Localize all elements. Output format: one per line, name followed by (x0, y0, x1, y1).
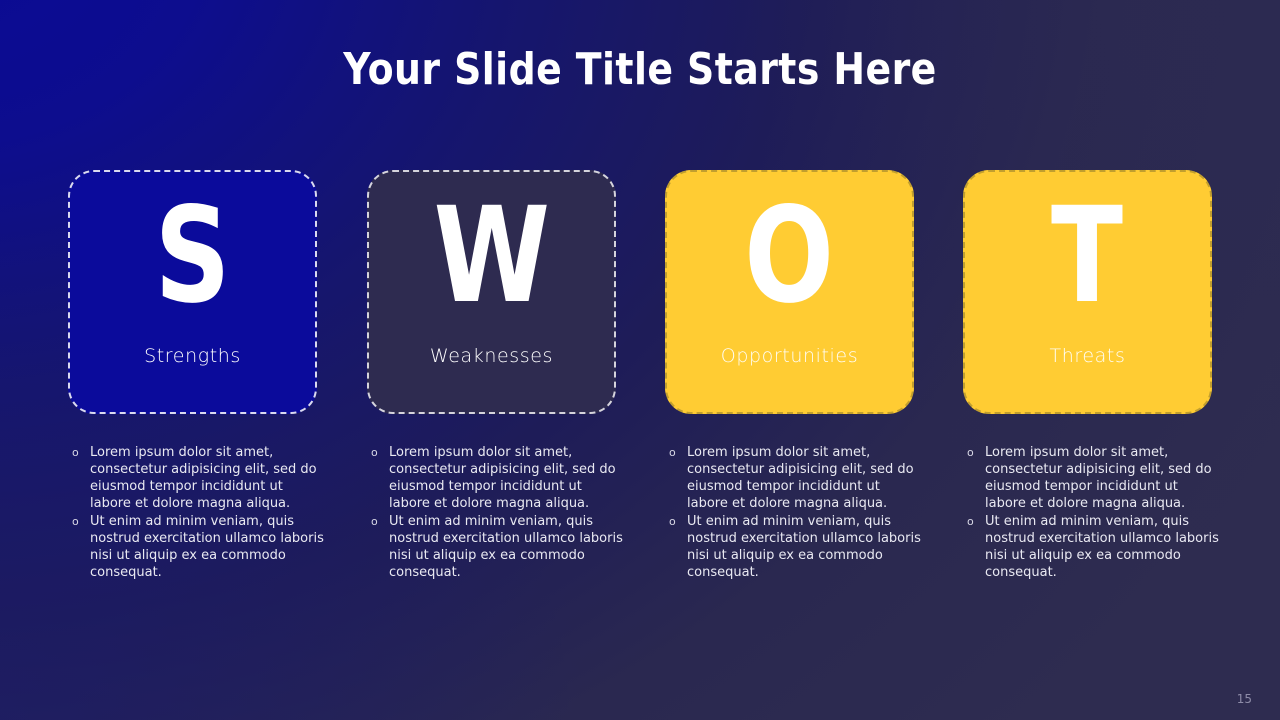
bullet-column-weaknesses: o Lorem ipsum dolor sit amet, consectetu… (371, 444, 623, 582)
list-item-text: Ut enim ad minim veniam, quis nostrud ex… (90, 513, 324, 581)
bullet-column-strengths: o Lorem ipsum dolor sit amet, consectetu… (72, 444, 324, 582)
list-item: o Ut enim ad minim veniam, quis nostrud … (967, 513, 1219, 581)
swot-card-strengths[interactable]: S Strengths (68, 170, 317, 414)
bullet-column-threats: o Lorem ipsum dolor sit amet, consectetu… (967, 444, 1219, 582)
bullet-circle-icon: o (669, 513, 687, 530)
swot-card-row: S Strengths W Weaknesses O Opportunities… (0, 170, 1280, 414)
swot-label-strengths: Strengths (70, 345, 315, 367)
swot-label-weaknesses: Weaknesses (369, 345, 614, 367)
list-item: o Ut enim ad minim veniam, quis nostrud … (72, 513, 324, 581)
swot-card-opportunities[interactable]: O Opportunities (665, 170, 914, 414)
bullet-circle-icon: o (669, 444, 687, 461)
list-item: o Ut enim ad minim veniam, quis nostrud … (371, 513, 623, 581)
swot-label-threats: Threats (965, 345, 1210, 367)
list-item-text: Ut enim ad minim veniam, quis nostrud ex… (687, 513, 921, 581)
list-item-text: Lorem ipsum dolor sit amet, consectetur … (389, 444, 623, 512)
list-item: o Ut enim ad minim veniam, quis nostrud … (669, 513, 921, 581)
list-item-text: Lorem ipsum dolor sit amet, consectetur … (687, 444, 921, 512)
bullet-circle-icon: o (967, 513, 985, 530)
swot-letter-threats: T (1051, 190, 1123, 322)
list-item-text: Lorem ipsum dolor sit amet, consectetur … (90, 444, 324, 512)
page-number: 15 (1237, 692, 1252, 706)
swot-letter-opportunities: O (745, 190, 835, 322)
list-item-text: Ut enim ad minim veniam, quis nostrud ex… (389, 513, 623, 581)
slide-canvas: Your Slide Title Starts Here S Strengths… (0, 0, 1280, 720)
list-item-text: Lorem ipsum dolor sit amet, consectetur … (985, 444, 1219, 512)
page-title: Your Slide Title Starts Here (90, 44, 1191, 95)
list-item: o Lorem ipsum dolor sit amet, consectetu… (72, 444, 324, 512)
bullet-circle-icon: o (371, 513, 389, 530)
list-item: o Lorem ipsum dolor sit amet, consectetu… (371, 444, 623, 512)
swot-letter-weaknesses: W (433, 190, 549, 322)
bullet-column-opportunities: o Lorem ipsum dolor sit amet, consectetu… (669, 444, 921, 582)
bullet-circle-icon: o (72, 444, 90, 461)
bullet-circle-icon: o (371, 444, 389, 461)
swot-card-weaknesses[interactable]: W Weaknesses (367, 170, 616, 414)
list-item: o Lorem ipsum dolor sit amet, consectetu… (967, 444, 1219, 512)
bullet-circle-icon: o (72, 513, 90, 530)
swot-card-threats[interactable]: T Threats (963, 170, 1212, 414)
list-item: o Lorem ipsum dolor sit amet, consectetu… (669, 444, 921, 512)
swot-label-opportunities: Opportunities (667, 345, 912, 367)
swot-letter-strengths: S (154, 190, 230, 322)
bullet-circle-icon: o (967, 444, 985, 461)
list-item-text: Ut enim ad minim veniam, quis nostrud ex… (985, 513, 1219, 581)
